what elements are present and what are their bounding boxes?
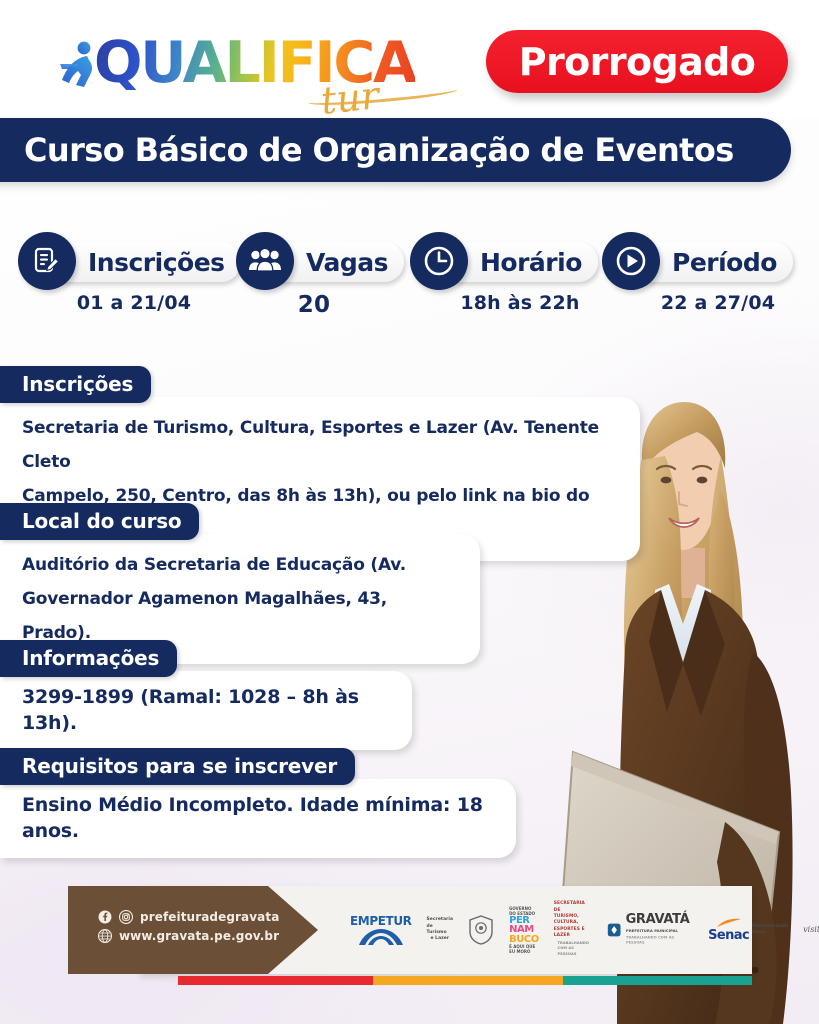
facebook-icon[interactable] xyxy=(98,910,112,924)
badge-value: 20 xyxy=(254,292,374,318)
status-badge: Prorrogado xyxy=(486,30,788,93)
clock-icon xyxy=(422,244,456,278)
block-line: Auditório da Secretaria de Educação (Av. xyxy=(22,548,454,582)
logo-governo-pernambuco: GOVERNO DO ESTADO PER NAM BUCO É AQUI QU… xyxy=(509,906,539,955)
logo-secretaria-turismo-lazer: Secretaria de Turismo e Lazer xyxy=(427,917,454,943)
website-line: www.gravata.pe.gov.br xyxy=(98,929,279,943)
stripe-teal xyxy=(563,976,752,985)
pe-bottom-label: É AQUI QUE EU MORO xyxy=(509,944,539,954)
empetur-label: EMPETUR xyxy=(350,914,412,928)
sec-line-2: de Turismo xyxy=(427,924,454,937)
logo-tur-script: tur xyxy=(319,73,381,123)
sec-line-3: e Lazer xyxy=(430,936,449,942)
stc-line-4: TRABALHANDO COM AS PESSOAS xyxy=(557,941,589,957)
block-card: 3299-1899 (Ramal: 1028 – 8h às 13h). xyxy=(0,671,412,750)
logo-gravata-prefeitura: GRAVATÁ PREFEITURA MUNICIPAL TRABALHANDO… xyxy=(607,912,693,947)
footer-color-stripe xyxy=(178,976,752,985)
block-card: Ensino Médio Incompleto. Idade mínima: 1… xyxy=(0,779,516,858)
globe-icon[interactable] xyxy=(98,929,112,943)
gravata-sub2: TRABALHANDO COM AS PESSOAS xyxy=(626,936,680,946)
block-line: 3299-1899 (Ramal: 1028 – 8h às 13h). xyxy=(22,685,386,736)
badge-label: Horário xyxy=(480,248,582,277)
badge-label: Inscrições xyxy=(88,248,225,277)
gravata-sub: PREFEITURA MUNICIPAL xyxy=(626,929,678,934)
empetur-rays-icon xyxy=(358,928,404,946)
badge-icon-circle xyxy=(18,232,76,290)
block-tag: Informações xyxy=(0,640,177,677)
info-badge-row: Inscrições 01 a 21/04 Vagas xyxy=(0,232,819,318)
block-line: Secretaria de Turismo, Cultura, Esportes… xyxy=(22,411,614,479)
qualifica-tur-logo: QUALIFICA tur xyxy=(56,24,456,104)
badge-label: Vagas xyxy=(306,248,388,277)
senac-sub-2: Senac xyxy=(752,930,788,936)
title-bar: Curso Básico de Organização de Eventos xyxy=(0,118,791,182)
footer: prefeituradegravata www.gravata.pe.gov.b… xyxy=(68,886,752,990)
logo-secretaria-turismo-cultura: SECRETARIA DE TURISMO, CULTURA, ESPORTES… xyxy=(554,901,593,958)
social-info: prefeituradegravata www.gravata.pe.gov.b… xyxy=(98,910,279,948)
social-handle: prefeituradegravata xyxy=(140,910,279,924)
badge-icon-circle xyxy=(602,232,660,290)
block-line: Ensino Médio Incompleto. Idade mínima: 1… xyxy=(22,793,490,844)
instagram-icon[interactable] xyxy=(119,910,133,924)
stripe-orange xyxy=(373,976,562,985)
stc-line-2: TURISMO, CULTURA, xyxy=(554,914,593,927)
badge-icon-circle xyxy=(410,232,468,290)
coat-of-arms-icon xyxy=(468,915,494,945)
block-tag: Requisitos para se inscrever xyxy=(0,748,355,785)
stc-line-1: SECRETARIA DE xyxy=(554,901,593,914)
badge-value: 18h às 22h xyxy=(440,292,600,314)
play-circle-icon xyxy=(614,244,648,278)
partner-logos: EMPETUR Secretaria de Turismo e Lazer xyxy=(350,902,752,958)
gravata-shield-icon xyxy=(607,921,621,939)
stc-line-3: ESPORTES E LAZER xyxy=(554,927,593,940)
logo-senac: Senac Recomendado Senac xyxy=(708,918,788,943)
block-tag: Inscrições xyxy=(0,366,151,403)
logo-empetur: EMPETUR xyxy=(350,914,412,946)
header: QUALIFICA tur Prorrogado xyxy=(0,0,819,118)
block-requisitos: Requisitos para se inscrever Ensino Médi… xyxy=(0,748,516,858)
pe-word-3: BUCO xyxy=(509,935,539,945)
block-tag: Local do curso xyxy=(0,503,199,540)
badge-icon-circle xyxy=(236,232,294,290)
social-handle-line: prefeituradegravata xyxy=(98,910,279,924)
logo-visite-gravata: visite GRA VA TA xyxy=(803,914,819,946)
logo-brasao xyxy=(468,915,494,945)
page-title: Curso Básico de Organização de Eventos xyxy=(0,131,734,169)
visite-script: visite xyxy=(803,925,819,934)
badge-value: 22 a 27/04 xyxy=(638,292,798,314)
website-url: www.gravata.pe.gov.br xyxy=(119,929,279,943)
status-badge-label: Prorrogado xyxy=(519,40,755,84)
stripe-red xyxy=(178,976,373,985)
senac-label: Senac xyxy=(708,928,749,943)
people-group-icon xyxy=(248,246,282,276)
badge-label: Período xyxy=(672,248,777,277)
flyer-root: QUALIFICA tur Prorrogado Curso Básico de… xyxy=(0,0,819,1024)
gravata-label: GRAVATÁ xyxy=(626,912,690,928)
document-pencil-icon xyxy=(31,245,63,277)
footer-arrow-banner: prefeituradegravata www.gravata.pe.gov.b… xyxy=(68,886,318,974)
badge-value: 01 a 21/04 xyxy=(54,292,214,314)
senac-swoosh-icon xyxy=(716,918,742,928)
